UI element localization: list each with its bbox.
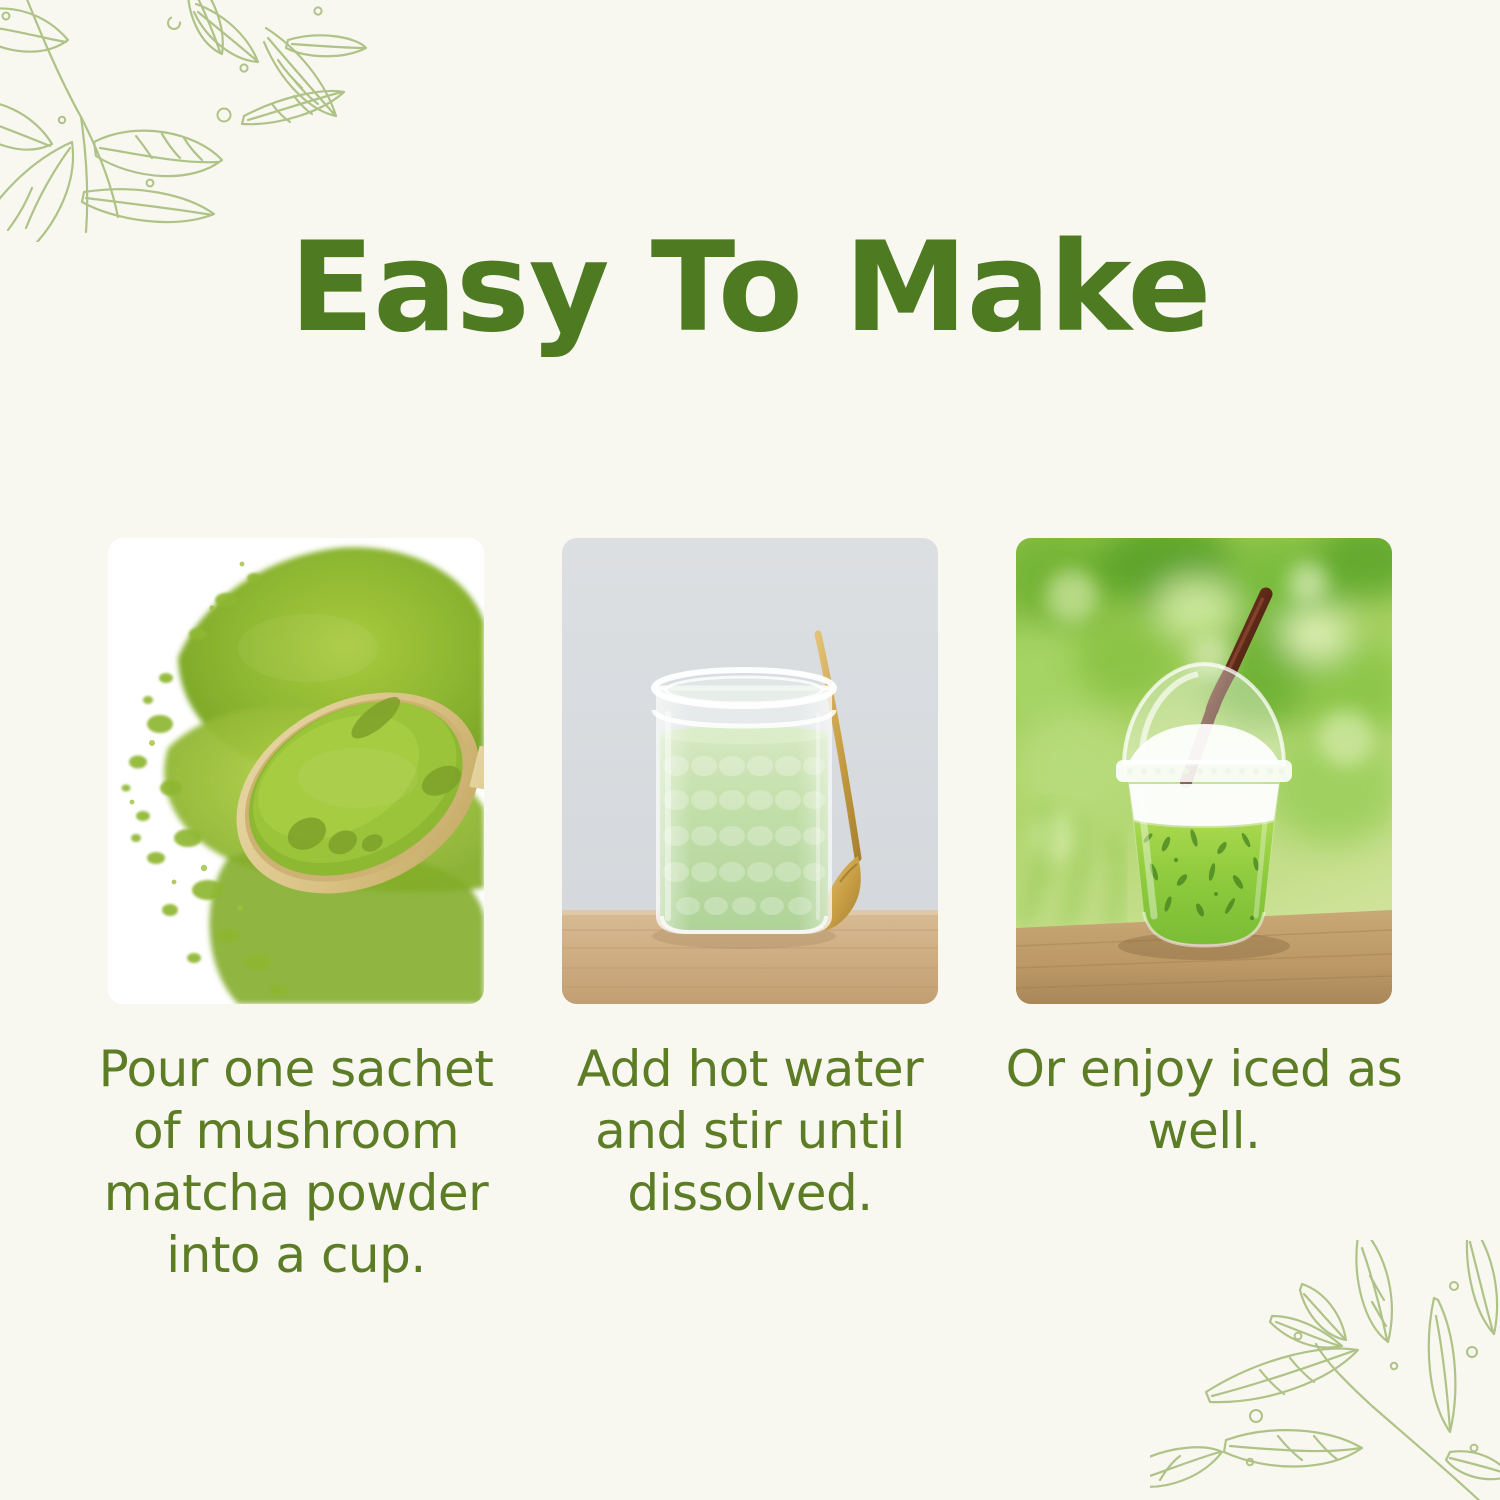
step-1-photo-matcha-powder <box>108 538 484 1004</box>
tea-leaf-decoration-top-left <box>0 0 406 242</box>
step-1-caption: Pour one sachet of mushroom matcha powde… <box>96 1038 496 1286</box>
step-2-photo-matcha-latte-jar <box>562 538 938 1004</box>
step-2-caption: Add hot water and stir until dissolved. <box>550 1038 950 1224</box>
page-title: Easy To Make <box>0 226 1500 350</box>
step-3-photo-iced-matcha <box>1016 538 1392 1004</box>
steps-row: Pour one sachet of mushroom matcha powde… <box>108 538 1392 1286</box>
step-1: Pour one sachet of mushroom matcha powde… <box>108 538 484 1286</box>
step-3-caption: Or enjoy iced as well. <box>1004 1038 1404 1162</box>
easy-to-make-infographic: Easy To Make <box>0 0 1500 1500</box>
step-2: Add hot water and stir until dissolved. <box>562 538 938 1286</box>
step-3: Or enjoy iced as well. <box>1016 538 1392 1286</box>
